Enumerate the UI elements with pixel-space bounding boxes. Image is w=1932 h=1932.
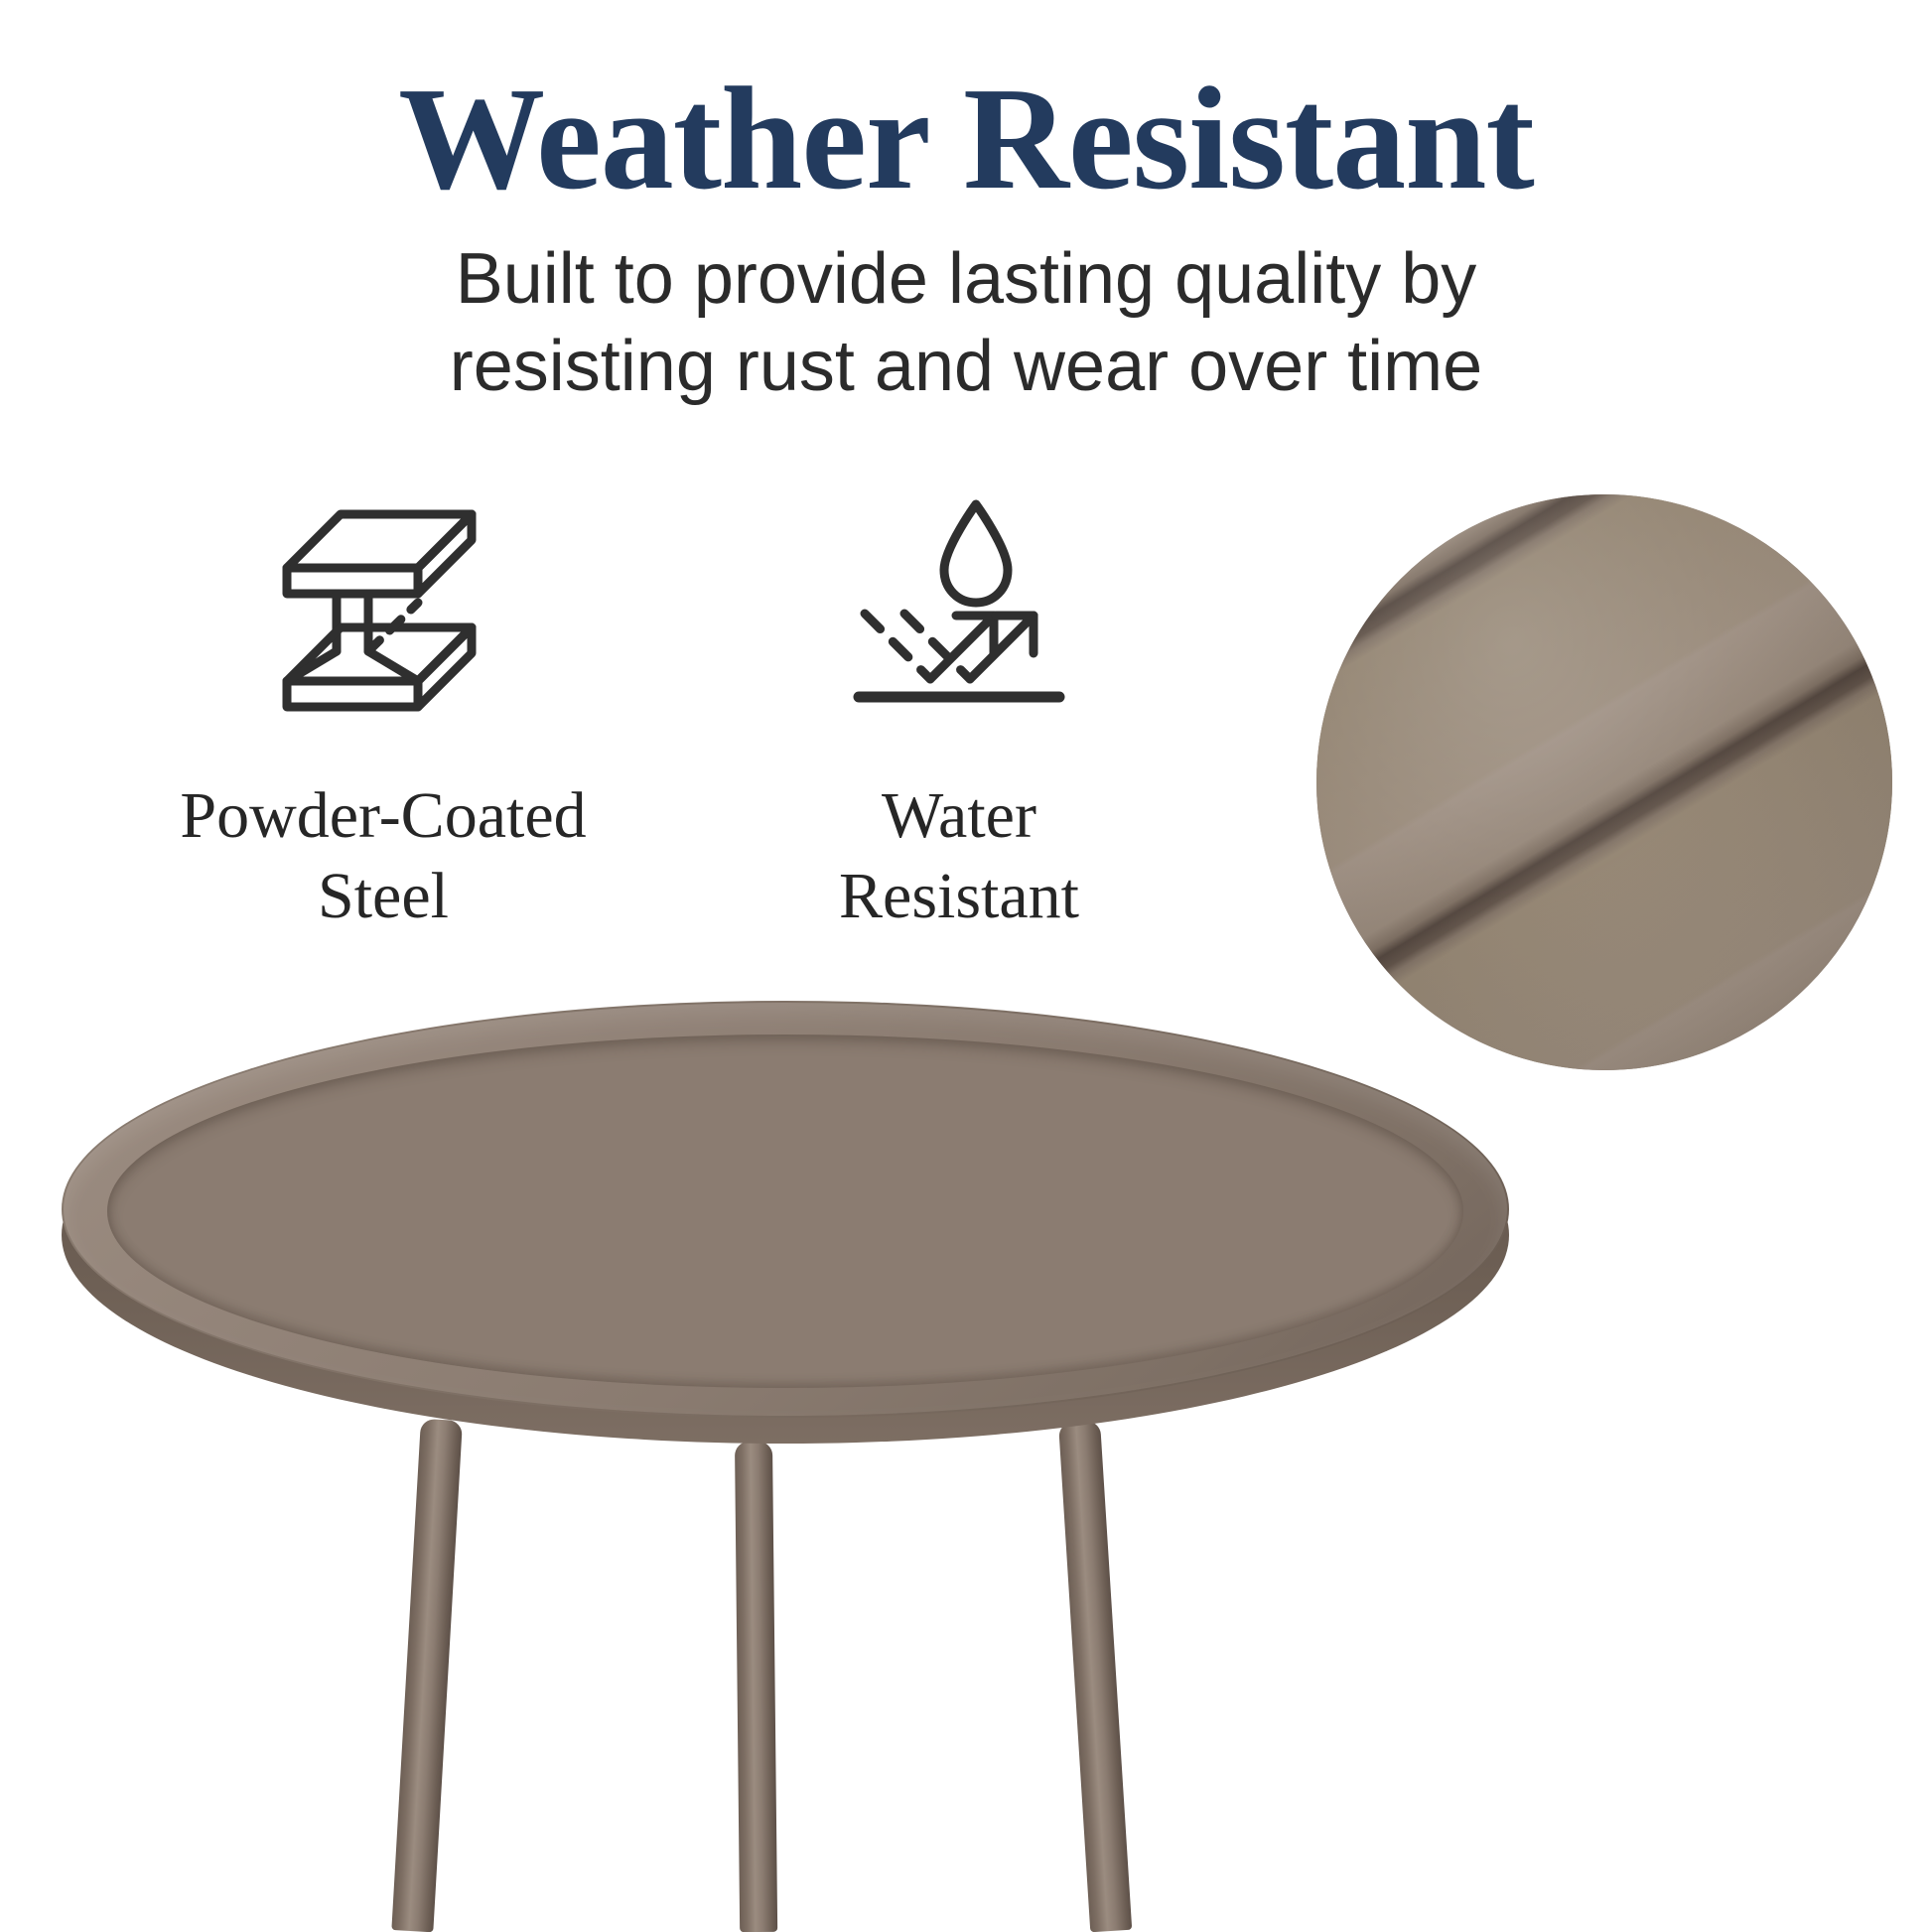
table-leg-right: [1058, 1421, 1132, 1932]
table-leg-left: [391, 1419, 463, 1932]
feature-powder-coated-steel: Powder-Coated Steel: [95, 477, 671, 936]
table-rim-lip: [62, 1001, 1509, 1418]
table-rim-side: [62, 1027, 1509, 1444]
feature-label-powder-coated-steel: Powder-Coated Steel: [180, 776, 586, 936]
water-droplet-repel-icon: [830, 477, 1088, 725]
detail-slat-texture: [1301, 479, 1908, 1086]
i-beam-icon: [254, 477, 512, 725]
table-top: [62, 1001, 1509, 1418]
feature-label-line-1: Water: [882, 779, 1036, 852]
feature-label-line-1: Powder-Coated: [180, 779, 586, 852]
subtitle-line-2: resisting rust and wear over time: [0, 324, 1932, 411]
feature-water-resistant: Water Resistant: [671, 477, 1247, 936]
detail-callout-circle: [1301, 479, 1908, 1086]
feature-label-line-2: Steel: [180, 857, 586, 937]
table-slat-panel: [107, 1035, 1463, 1388]
table-leg-center: [735, 1442, 777, 1932]
subtitle-line-1: Built to provide lasting quality by: [456, 239, 1477, 319]
feature-label-water-resistant: Water Resistant: [839, 776, 1079, 936]
product-feature-graphic: Weather Resistant Built to provide lasti…: [0, 0, 1932, 1932]
feature-list: Powder-Coated Steel: [95, 477, 1247, 936]
page-title: Weather Resistant: [0, 62, 1932, 217]
page-subtitle: Built to provide lasting quality by resi…: [0, 236, 1932, 411]
table-slats: [107, 1035, 1463, 1388]
feature-label-line-2: Resistant: [839, 857, 1079, 937]
detail-sheen-overlay: [1316, 494, 1892, 1070]
